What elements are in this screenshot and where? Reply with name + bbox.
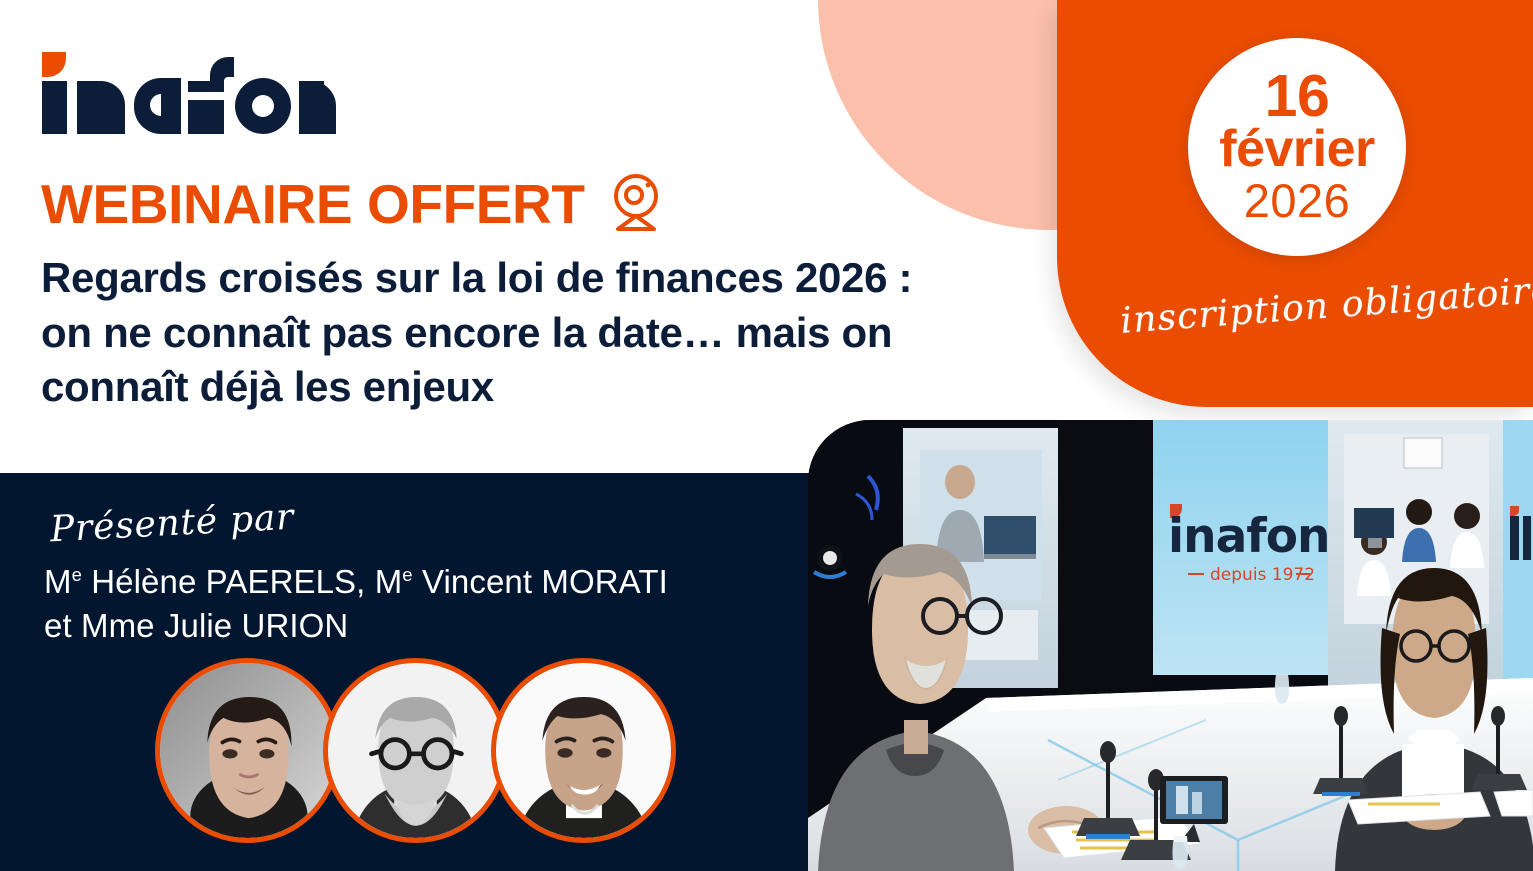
svg-text:inafon: inafon xyxy=(1168,509,1329,564)
eyebrow-label: WEBINAIRE OFFERT xyxy=(41,177,585,232)
date-day: 16 xyxy=(1265,69,1330,123)
date-badge: 16 février 2026 xyxy=(1188,38,1406,256)
headline-line-3: connaît déjà les enjeux xyxy=(41,360,1021,415)
speaker-names-line-2: et Mme Julie URION xyxy=(44,604,668,648)
webinar-banner: 16 février 2026 inscription obligatoire xyxy=(0,0,1533,871)
inafon-logo xyxy=(36,50,336,141)
logo-accent-icon xyxy=(36,50,336,141)
headline-line-2: on ne connaît pas encore la date… mais o… xyxy=(41,306,1021,361)
webcam-icon xyxy=(605,172,667,237)
headline-title: Regards croisés sur la loi de finances 2… xyxy=(41,251,1021,415)
eyebrow-row: WEBINAIRE OFFERT xyxy=(41,172,1021,237)
speaker-names: Me Hélène PAERELS, Me Vincent MORATI et … xyxy=(44,560,668,648)
speaker-names-line-1: Me Hélène PAERELS, Me Vincent MORATI xyxy=(44,560,668,604)
speaker-avatars xyxy=(155,658,659,843)
date-month: février xyxy=(1219,123,1375,176)
headline-line-1: Regards croisés sur la loi de finances 2… xyxy=(41,251,1021,306)
avatar xyxy=(155,658,340,843)
avatar xyxy=(491,658,676,843)
headline-block: WEBINAIRE OFFERT Regards croisés sur la … xyxy=(41,172,1021,415)
avatar xyxy=(323,658,508,843)
date-year: 2026 xyxy=(1244,176,1351,225)
studio-photo: inafon depuis 1972 xyxy=(808,420,1533,871)
